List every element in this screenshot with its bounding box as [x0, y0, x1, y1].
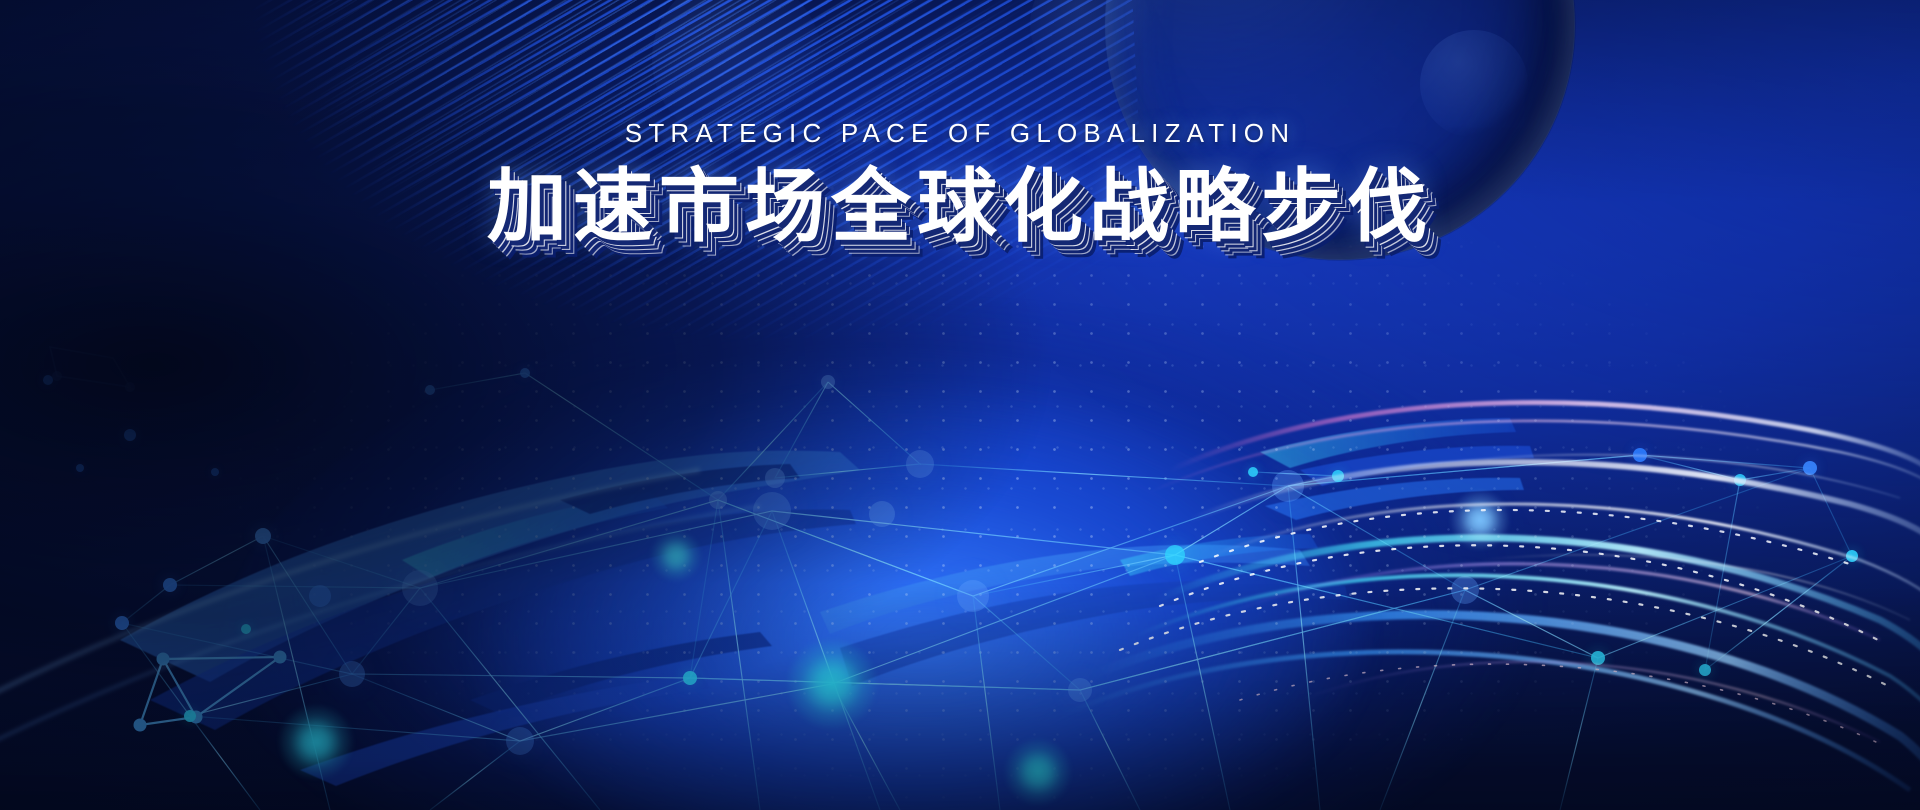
page-title: 加速市场全球化战略步伐 [487, 164, 1433, 250]
network-node [957, 580, 989, 612]
network-node [1734, 474, 1746, 486]
network-node [906, 450, 934, 478]
glow-point [1004, 738, 1072, 806]
globe-core-glow [330, 345, 1510, 810]
network-node [753, 492, 791, 530]
network-node [1633, 448, 1647, 462]
network-node [402, 570, 438, 606]
faint-polygon [50, 347, 130, 387]
glow-point [650, 530, 702, 582]
network-node [1699, 664, 1711, 676]
headline-block: STRATEGIC PACE OF GLOBALIZATION 加速市场全球化战… [0, 120, 1920, 250]
diagonal-stripe-field [0, 0, 1156, 510]
network-node [211, 468, 219, 476]
globe-glow [220, 300, 1640, 810]
network-node [1248, 467, 1258, 477]
network-node [163, 578, 177, 592]
network-node [184, 710, 196, 722]
network-node [309, 585, 331, 607]
network-node [124, 429, 136, 441]
network-node [115, 616, 129, 630]
network-node [520, 368, 530, 378]
network-node [76, 464, 84, 472]
network-node [709, 491, 727, 509]
network-node [1272, 470, 1304, 502]
network-node [339, 661, 365, 687]
glow-point [278, 704, 354, 780]
network-node [1332, 470, 1344, 482]
glow-point [1450, 490, 1510, 550]
bokeh-circle-c [1030, 0, 1150, 84]
glow-point [786, 638, 878, 730]
banner-root: STRATEGIC PACE OF GLOBALIZATION 加速市场全球化战… [0, 0, 1920, 810]
network-node [683, 671, 697, 685]
network-node [1591, 651, 1605, 665]
network-node [1451, 576, 1479, 604]
network-node [241, 624, 251, 634]
network-node [821, 375, 835, 389]
eyebrow-text: STRATEGIC PACE OF GLOBALIZATION [0, 120, 1920, 146]
network-node [765, 468, 785, 488]
network-node [1846, 550, 1858, 562]
network-node [43, 375, 53, 385]
network-node [1068, 678, 1092, 702]
network-node [255, 528, 271, 544]
network-node [869, 501, 895, 527]
network-node [1165, 545, 1185, 565]
constellation-polygon [140, 657, 280, 725]
network-node [425, 385, 435, 395]
network-node [506, 727, 534, 755]
network-node [1803, 461, 1817, 475]
